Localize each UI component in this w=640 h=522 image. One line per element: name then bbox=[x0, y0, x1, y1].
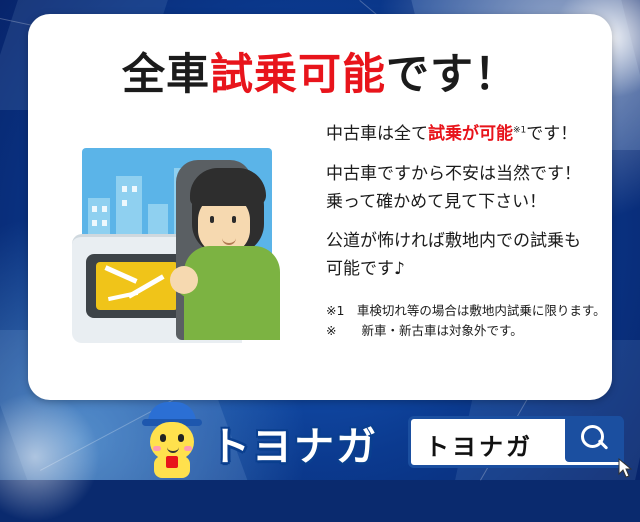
search-input-value: トヨナガ bbox=[425, 427, 533, 462]
mascot-cheek bbox=[153, 446, 161, 451]
headline-suffix: です！ bbox=[386, 50, 518, 100]
car-interior-driver-illustration bbox=[72, 142, 298, 340]
brand-logo-text: トヨナガ bbox=[210, 414, 378, 472]
headline-prefix: 全車 bbox=[122, 50, 210, 100]
building-window bbox=[132, 186, 137, 192]
p1-footnote-marker: ※1 bbox=[513, 125, 526, 135]
navigation-screen bbox=[96, 262, 178, 310]
driver-hand bbox=[170, 266, 198, 294]
driver-eye bbox=[210, 216, 214, 223]
paragraph-line-2: 乗って確かめて見て下さい！ bbox=[326, 190, 594, 216]
paragraph-line-3: 公道が怖ければ敷地内での試乗も bbox=[326, 229, 594, 255]
headline-highlight: 試乗可能 bbox=[210, 50, 386, 100]
mascot-eye bbox=[178, 434, 184, 442]
building-window bbox=[92, 220, 97, 226]
mascot-eye bbox=[160, 434, 166, 442]
mascot-cheek bbox=[184, 446, 192, 451]
building-window bbox=[102, 206, 107, 212]
footnote-1: ※1 車検切れ等の場合は敷地内試乗に限ります。 bbox=[326, 301, 594, 320]
p1-highlight: 試乗が可能 bbox=[428, 124, 513, 144]
body-copy: 中古車は全て試乗が可能※1です！ 中古車ですから不安は当然です！ 乗って確かめて… bbox=[326, 122, 594, 340]
building-window bbox=[92, 206, 97, 212]
paragraph-line-4: 可能です♪ bbox=[326, 257, 594, 283]
mascot-face bbox=[150, 422, 194, 460]
driver-hair bbox=[190, 168, 266, 206]
footnote-2: ※ 新車・新古車は対象外です。 bbox=[326, 321, 594, 340]
building-window bbox=[122, 200, 127, 206]
toyonaga-mascot bbox=[140, 402, 204, 480]
content-card: 全車試乗可能です！ bbox=[28, 14, 612, 400]
mouse-cursor-icon bbox=[618, 458, 634, 478]
footer-bar: トヨナガ トヨナガ bbox=[0, 400, 640, 480]
page-title: 全車試乗可能です！ bbox=[28, 40, 612, 102]
building-window bbox=[102, 220, 107, 226]
footnotes: ※1 車検切れ等の場合は敷地内試乗に限ります。 ※ 新車・新古車は対象外です。 bbox=[326, 301, 594, 340]
building-window bbox=[122, 186, 127, 192]
search-input[interactable]: トヨナガ bbox=[408, 416, 624, 468]
nav-route-line bbox=[104, 265, 137, 283]
paragraph-line-1: 中古車ですから不安は当然です！ bbox=[326, 162, 594, 188]
search-button[interactable] bbox=[565, 416, 623, 462]
mascot-tie bbox=[166, 456, 178, 468]
driver-eye bbox=[232, 216, 236, 223]
p1-before: 中古車は全て bbox=[326, 124, 428, 144]
p1-after: です！ bbox=[526, 124, 577, 144]
paragraph-main: 中古車は全て試乗が可能※1です！ bbox=[326, 122, 594, 148]
